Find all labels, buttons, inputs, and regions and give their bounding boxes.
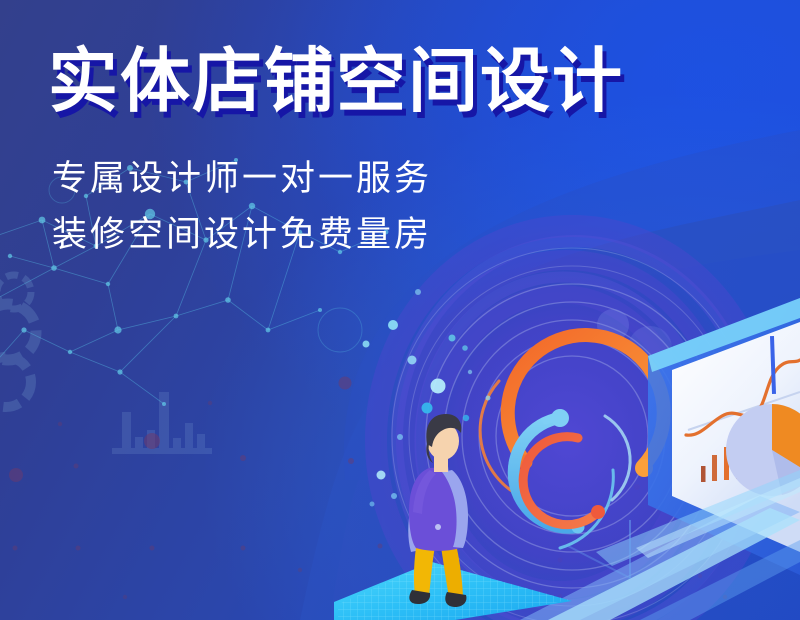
promo-banner: 实体店铺空间设计 专属设计师一对一服务 装修空间设计免费量房 [0, 0, 800, 620]
standing-person [0, 0, 800, 620]
person-figure [408, 414, 468, 607]
